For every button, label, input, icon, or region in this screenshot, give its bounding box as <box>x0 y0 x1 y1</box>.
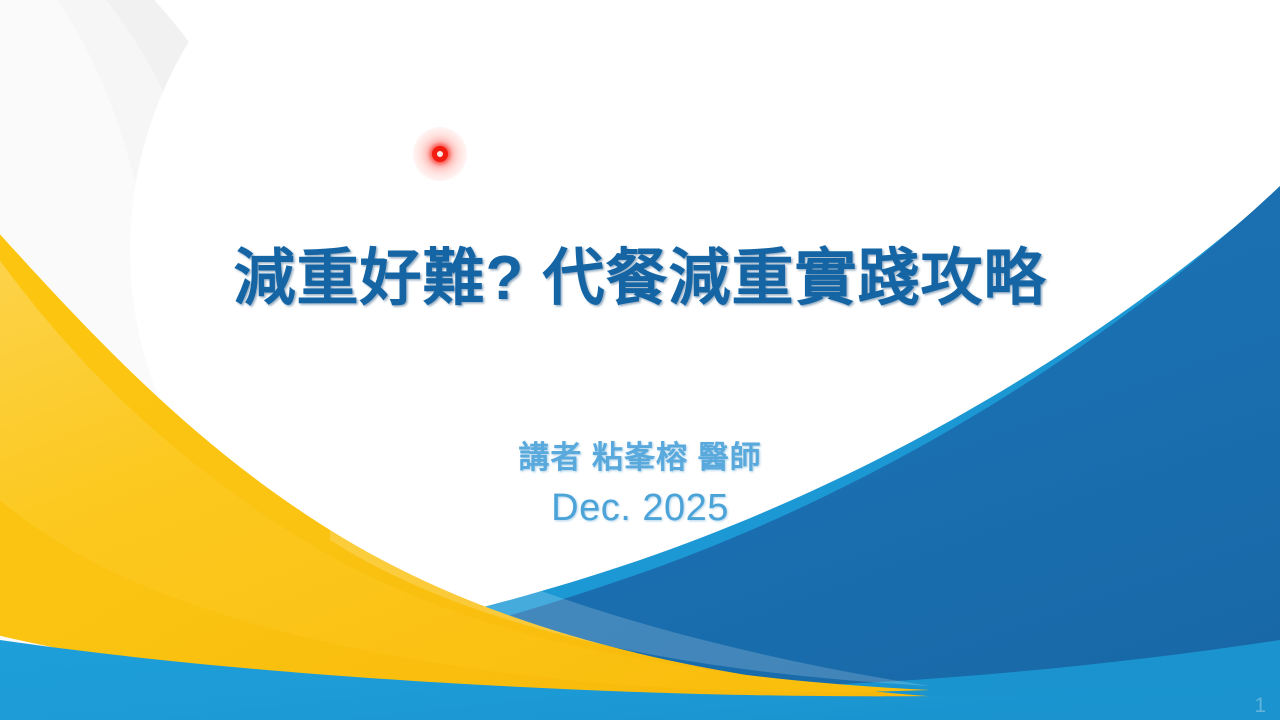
slide-background-artwork <box>0 0 1280 720</box>
presentation-slide: 減重好難? 代餐減重實踐攻略 講者 粘峯榕 醫師 Dec. 2025 1 <box>0 0 1280 720</box>
slide-number: 1 <box>1254 694 1266 718</box>
title-container: 減重好難? 代餐減重實踐攻略 <box>0 246 1280 313</box>
slide-title: 減重好難? 代餐減重實踐攻略 <box>0 246 1280 313</box>
subtitle-container: 講者 粘峯榕 醫師 Dec. 2025 <box>0 432 1280 530</box>
presenter-name: 講者 粘峯榕 醫師 <box>0 432 1280 477</box>
talk-date: Dec. 2025 <box>0 487 1280 530</box>
